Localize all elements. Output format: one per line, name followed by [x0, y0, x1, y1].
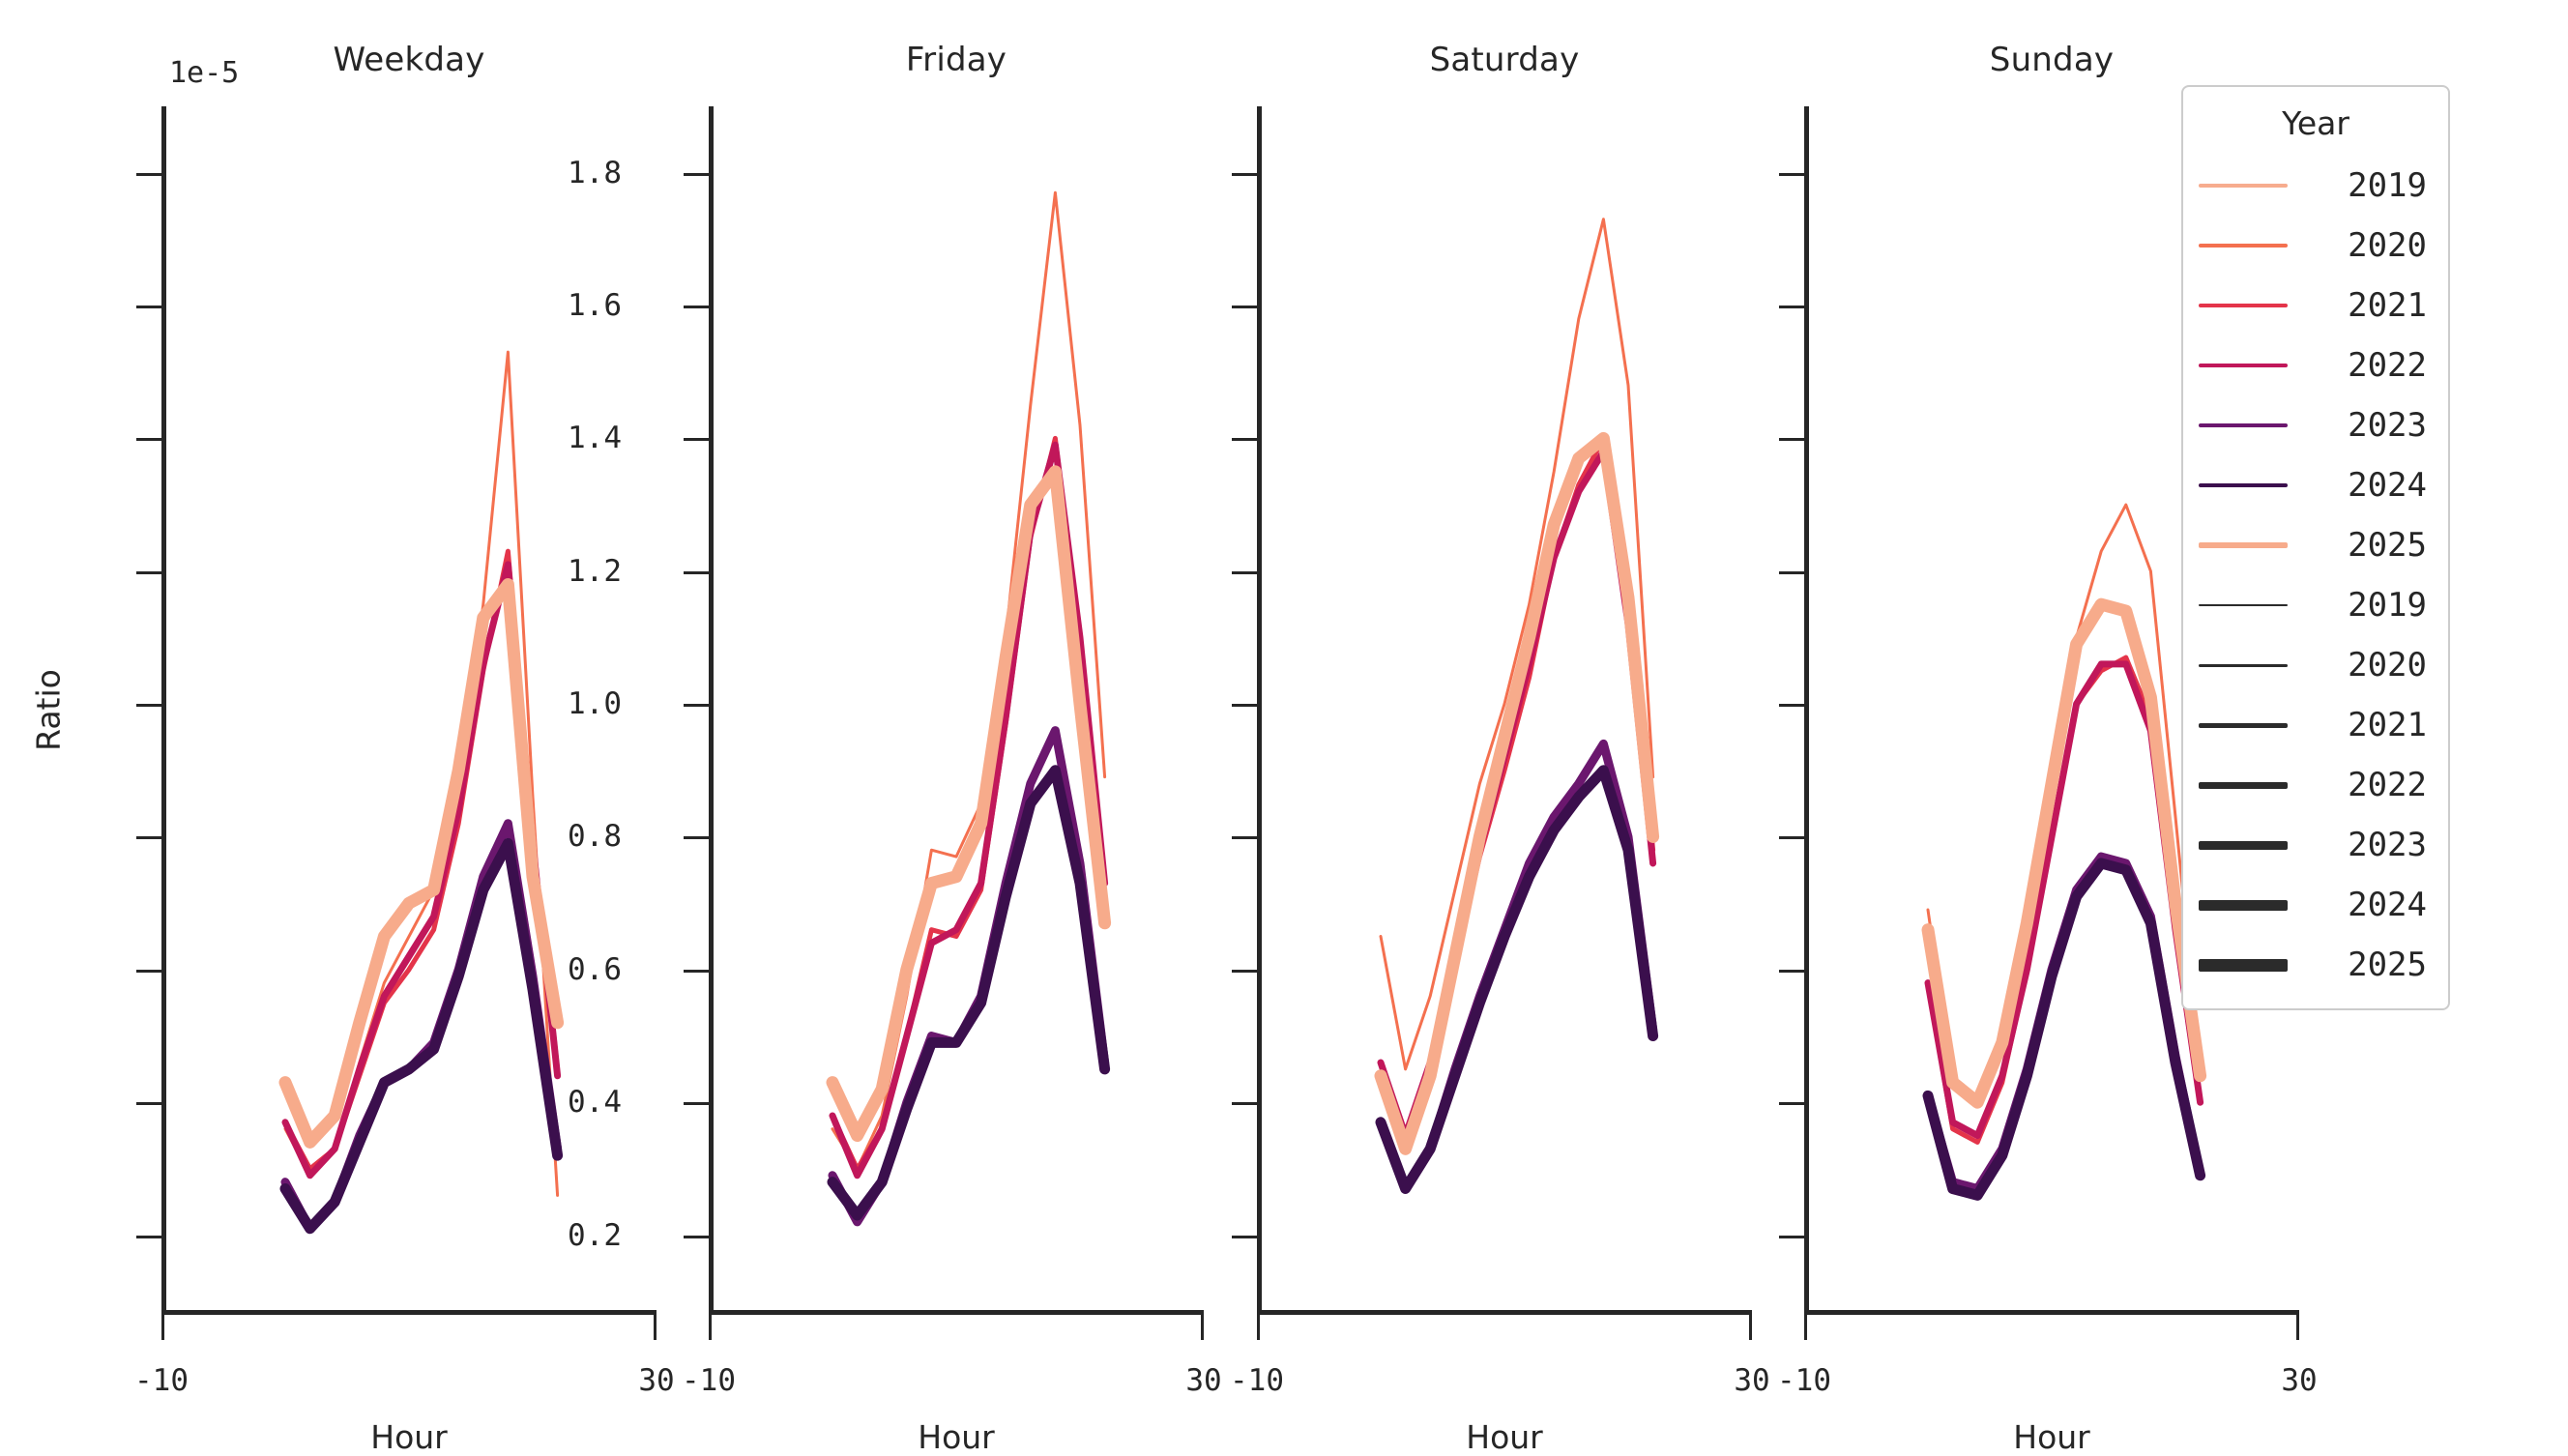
y-axis-tick	[1779, 173, 1804, 176]
series-line-2024	[1928, 863, 2201, 1195]
legend-item-hue-2022[interactable]: 2022	[2183, 335, 2448, 395]
legend-item-label: 2023	[2288, 826, 2448, 864]
panel-title-weekday: Weekday	[161, 41, 657, 79]
series-line-2019	[1381, 219, 1653, 1069]
legend-line-swatch	[2199, 959, 2288, 972]
y-axis-tick	[684, 1236, 709, 1238]
x-axis-tick-label: 30	[1185, 1363, 1221, 1398]
legend-item-size-2020[interactable]: 2020	[2183, 635, 2448, 695]
legend-color-line	[2199, 723, 2288, 728]
legend-item-label: 2022	[2288, 346, 2448, 385]
legend-item-size-2025[interactable]: 2025	[2183, 935, 2448, 995]
y-axis-tick	[136, 571, 161, 574]
x-axis-tick	[1749, 1315, 1752, 1340]
legend-line-swatch	[2199, 244, 2288, 248]
x-axis-tick	[1257, 1315, 1260, 1340]
legend-item-label: 2024	[2288, 886, 2448, 924]
x-axis-tick-label: 30	[638, 1363, 674, 1398]
legend-color-line	[2199, 244, 2288, 248]
legend-color-line	[2199, 483, 2288, 487]
legend-item-size-2023[interactable]: 2023	[2183, 815, 2448, 875]
plot-lines	[161, 106, 657, 1315]
x-axis-tick	[654, 1315, 657, 1340]
x-axis-label: Hour	[709, 1418, 1204, 1456]
legend-title: Year	[2183, 104, 2448, 142]
legend-color-line	[2199, 664, 2288, 667]
x-axis-tick-label: -10	[1230, 1363, 1284, 1398]
legend-color-line	[2199, 841, 2288, 850]
y-axis-tick	[1779, 438, 1804, 441]
legend-line-swatch	[2199, 542, 2288, 548]
legend-item-label: 2019	[2288, 166, 2448, 205]
figure-root: 1e-5 Ratio Weekday0.20.40.60.81.01.21.41…	[0, 0, 2568, 1450]
y-axis-tick	[136, 1236, 161, 1238]
y-axis-tick	[136, 173, 161, 176]
x-axis-tick	[1804, 1315, 1807, 1340]
y-axis-tick	[684, 571, 709, 574]
y-axis-tick	[684, 1102, 709, 1105]
series-line-2019	[285, 352, 558, 1195]
plot-lines	[709, 106, 1204, 1315]
legend-item-label: 2019	[2288, 586, 2448, 625]
panel-friday: Friday-1030Hour	[709, 106, 1204, 1315]
legend-color-line	[2199, 782, 2288, 789]
y-axis-tick	[1232, 704, 1257, 707]
legend-item-label: 2022	[2288, 766, 2448, 804]
x-axis-tick-label: -10	[682, 1363, 736, 1398]
x-axis-tick	[1201, 1315, 1204, 1340]
legend-item-label: 2020	[2288, 646, 2448, 684]
legend-item-size-2021[interactable]: 2021	[2183, 695, 2448, 755]
x-axis-tick-label: -10	[134, 1363, 189, 1398]
legend-item-hue-2019[interactable]: 2019	[2183, 156, 2448, 216]
legend-item-label: 2021	[2288, 706, 2448, 744]
legend-line-swatch	[2199, 841, 2288, 850]
legend-item-label: 2020	[2288, 226, 2448, 265]
legend-line-swatch	[2199, 364, 2288, 367]
y-axis-tick	[136, 970, 161, 973]
y-axis-tick	[684, 836, 709, 839]
panel-title-sunday: Sunday	[1804, 41, 2299, 79]
y-axis-label: Ratio	[30, 653, 68, 769]
legend-color-line	[2199, 423, 2288, 427]
panel-title-saturday: Saturday	[1257, 41, 1752, 79]
legend-item-size-2019[interactable]: 2019	[2183, 575, 2448, 635]
x-axis-tick-label: 30	[1734, 1363, 1769, 1398]
legend-line-swatch	[2199, 483, 2288, 487]
plot-lines	[1257, 106, 1752, 1315]
y-axis-tick	[1232, 1236, 1257, 1238]
y-axis-tick	[684, 704, 709, 707]
x-axis-tick-label: -10	[1777, 1363, 1831, 1398]
x-axis-tick	[709, 1315, 712, 1340]
x-axis-tick-label: 30	[2281, 1363, 2317, 1398]
y-axis-tick	[684, 306, 709, 308]
series-line-2025	[1928, 604, 2201, 1102]
y-axis-tick	[684, 970, 709, 973]
legend-line-swatch	[2199, 782, 2288, 789]
legend-item-hue-2021[interactable]: 2021	[2183, 276, 2448, 335]
legend[interactable]: Year 20192020202120222023202420252019202…	[2181, 85, 2450, 1010]
legend-line-swatch	[2199, 723, 2288, 728]
panel-title-friday: Friday	[709, 41, 1204, 79]
legend-color-line	[2199, 304, 2288, 307]
legend-item-label: 2021	[2288, 286, 2448, 325]
legend-line-swatch	[2199, 423, 2288, 427]
y-axis-tick	[136, 1102, 161, 1105]
y-axis-tick	[1779, 306, 1804, 308]
y-axis-tick	[1779, 704, 1804, 707]
legend-color-line	[2199, 604, 2288, 606]
y-axis-tick	[136, 438, 161, 441]
y-axis-tick	[1232, 306, 1257, 308]
panel-saturday: Saturday-1030Hour	[1257, 106, 1752, 1315]
y-axis-tick	[1232, 438, 1257, 441]
legend-line-swatch	[2199, 604, 2288, 606]
legend-item-label: 2025	[2288, 526, 2448, 565]
legend-line-swatch	[2199, 184, 2288, 188]
y-axis-tick	[1232, 173, 1257, 176]
y-axis-tick	[136, 704, 161, 707]
legend-item-label: 2023	[2288, 406, 2448, 445]
y-axis-tick	[1232, 970, 1257, 973]
legend-line-swatch	[2199, 664, 2288, 667]
y-axis-tick	[1232, 836, 1257, 839]
panel-weekday: Weekday0.20.40.60.81.01.21.41.61.8-1030H…	[161, 106, 657, 1315]
legend-color-line	[2199, 542, 2288, 548]
x-axis-tick	[2296, 1315, 2299, 1340]
legend-item-hue-2023[interactable]: 2023	[2183, 395, 2448, 455]
legend-line-swatch	[2199, 900, 2288, 911]
y-axis-tick	[684, 173, 709, 176]
legend-item-label: 2025	[2288, 946, 2448, 984]
x-axis-label: Hour	[1257, 1418, 1752, 1456]
legend-item-label: 2024	[2288, 466, 2448, 505]
x-axis-tick	[161, 1315, 164, 1340]
series-line-2024	[1381, 771, 1653, 1189]
legend-item-size-2024[interactable]: 2024	[2183, 875, 2448, 935]
y-axis-tick	[1232, 571, 1257, 574]
legend-color-line	[2199, 900, 2288, 911]
y-axis-tick	[1779, 571, 1804, 574]
series-line-2020	[285, 352, 558, 1195]
legend-item-hue-2024[interactable]: 2024	[2183, 455, 2448, 515]
legend-item-size-2022[interactable]: 2022	[2183, 755, 2448, 815]
x-axis-label: Hour	[161, 1418, 657, 1456]
series-line-2020	[1381, 219, 1653, 1069]
y-axis-tick	[1779, 836, 1804, 839]
y-axis-tick	[684, 438, 709, 441]
y-axis-tick	[1779, 970, 1804, 973]
y-axis-tick	[136, 306, 161, 308]
legend-item-hue-2025[interactable]: 2025	[2183, 515, 2448, 575]
y-axis-tick	[1779, 1102, 1804, 1105]
legend-color-line	[2199, 184, 2288, 188]
y-axis-tick	[1232, 1102, 1257, 1105]
x-axis-label: Hour	[1804, 1418, 2299, 1456]
legend-line-swatch	[2199, 304, 2288, 307]
y-axis-tick	[136, 836, 161, 839]
y-axis-tick	[1779, 1236, 1804, 1238]
legend-color-line	[2199, 959, 2288, 972]
legend-color-line	[2199, 364, 2288, 367]
legend-item-hue-2020[interactable]: 2020	[2183, 216, 2448, 276]
